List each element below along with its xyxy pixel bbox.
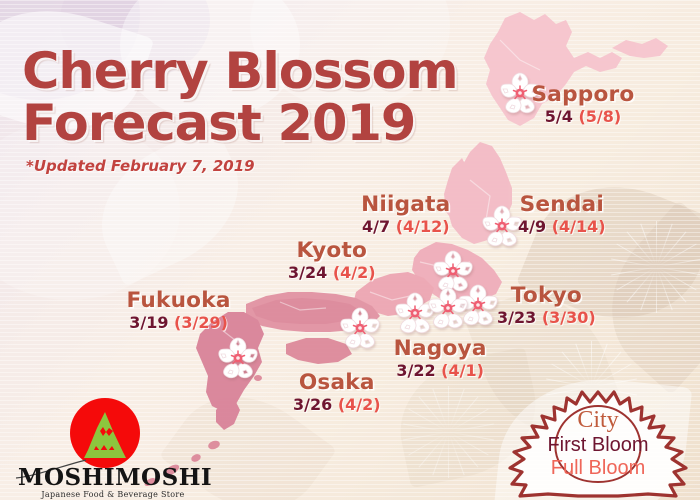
city-bloom-dates: 3/23 (3/30) [497, 308, 596, 327]
city-name: Nagoya [394, 336, 487, 360]
full-bloom-date: (4/12) [396, 217, 450, 236]
legend-first-bloom-label: First Bloom [498, 434, 698, 457]
first-bloom-date: 5/4 [545, 107, 573, 126]
city-bloom-dates: 3/24 (4/2) [288, 263, 376, 282]
legend-city-label: City [498, 408, 698, 433]
city-label-niigata: Niigata4/7 (4/12) [362, 192, 450, 236]
city-name: Osaka [292, 370, 382, 394]
full-bloom-date: (4/14) [552, 217, 606, 236]
first-bloom-date: 4/7 [362, 217, 390, 236]
city-label-kyoto: Kyoto3/24 (4/2) [288, 238, 376, 282]
first-bloom-date: 3/19 [129, 313, 168, 332]
first-bloom-date: 4/9 [518, 217, 546, 236]
full-bloom-date: (3/30) [542, 308, 596, 327]
blossom-marker-fukuoka [215, 335, 261, 386]
first-bloom-date: 3/26 [293, 395, 332, 414]
city-name: Kyoto [287, 238, 377, 262]
city-bloom-dates: 3/22 (4/1) [395, 361, 485, 380]
first-bloom-date: 3/24 [288, 263, 327, 282]
city-name: Sapporo [532, 82, 635, 106]
moshimoshi-logo[interactable]: MOSHIMOSHI Japanese Food & Beverage Stor… [18, 398, 208, 498]
full-bloom-date: (3/29) [174, 313, 228, 332]
full-bloom-date: (5/8) [578, 107, 621, 126]
city-label-nagoya: Nagoya3/22 (4/1) [395, 336, 485, 380]
blossom-marker-nagoya [425, 285, 471, 336]
city-name: Fukuoka [126, 288, 230, 312]
city-label-sendai: Sendai4/9 (4/14) [518, 192, 606, 236]
legend-full-bloom-label: Full Bloom [498, 457, 698, 480]
first-bloom-date: 3/23 [497, 308, 536, 327]
city-bloom-dates: 4/7 (4/12) [362, 217, 450, 236]
city-name: Tokyo [496, 283, 598, 307]
city-bloom-dates: 3/26 (4/2) [293, 395, 381, 414]
city-label-sapporo: Sapporo5/4 (5/8) [533, 82, 633, 126]
title-block: Cherry Blossom Forecast 2019 *Updated Fe… [22, 48, 449, 175]
logo-brand-name: MOSHIMOSHI [18, 464, 208, 491]
blossom-marker-osaka [337, 305, 383, 356]
city-label-fukuoka: Fukuoka3/19 (3/29) [128, 288, 229, 332]
cherry-blossom-forecast-poster: Cherry Blossom Forecast 2019 *Updated Fe… [0, 0, 700, 500]
city-bloom-dates: 3/19 (3/29) [128, 313, 229, 332]
first-bloom-date: 3/22 [396, 361, 435, 380]
city-label-tokyo: Tokyo3/23 (3/30) [497, 283, 596, 327]
map-island-1 [207, 439, 221, 451]
city-bloom-dates: 5/4 (5/8) [533, 107, 633, 126]
page-title-line-2: Forecast 2019 [22, 100, 458, 146]
full-bloom-date: (4/2) [333, 263, 376, 282]
city-bloom-dates: 4/9 (4/14) [518, 217, 606, 236]
page-title-line-1: Cherry Blossom [22, 48, 458, 94]
full-bloom-date: (4/1) [441, 361, 484, 380]
full-bloom-date: (4/2) [338, 395, 381, 414]
city-label-osaka: Osaka3/26 (4/2) [293, 370, 381, 414]
updated-note: *Updated February 7, 2019 [26, 157, 449, 175]
city-name: Niigata [361, 192, 451, 216]
map-region-hokkaido-tip [612, 38, 668, 58]
city-name: Sendai [517, 192, 607, 216]
logo-tagline: Japanese Food & Beverage Store [18, 490, 208, 499]
legend-badge: City First Bloom Full Bloom [498, 386, 698, 500]
